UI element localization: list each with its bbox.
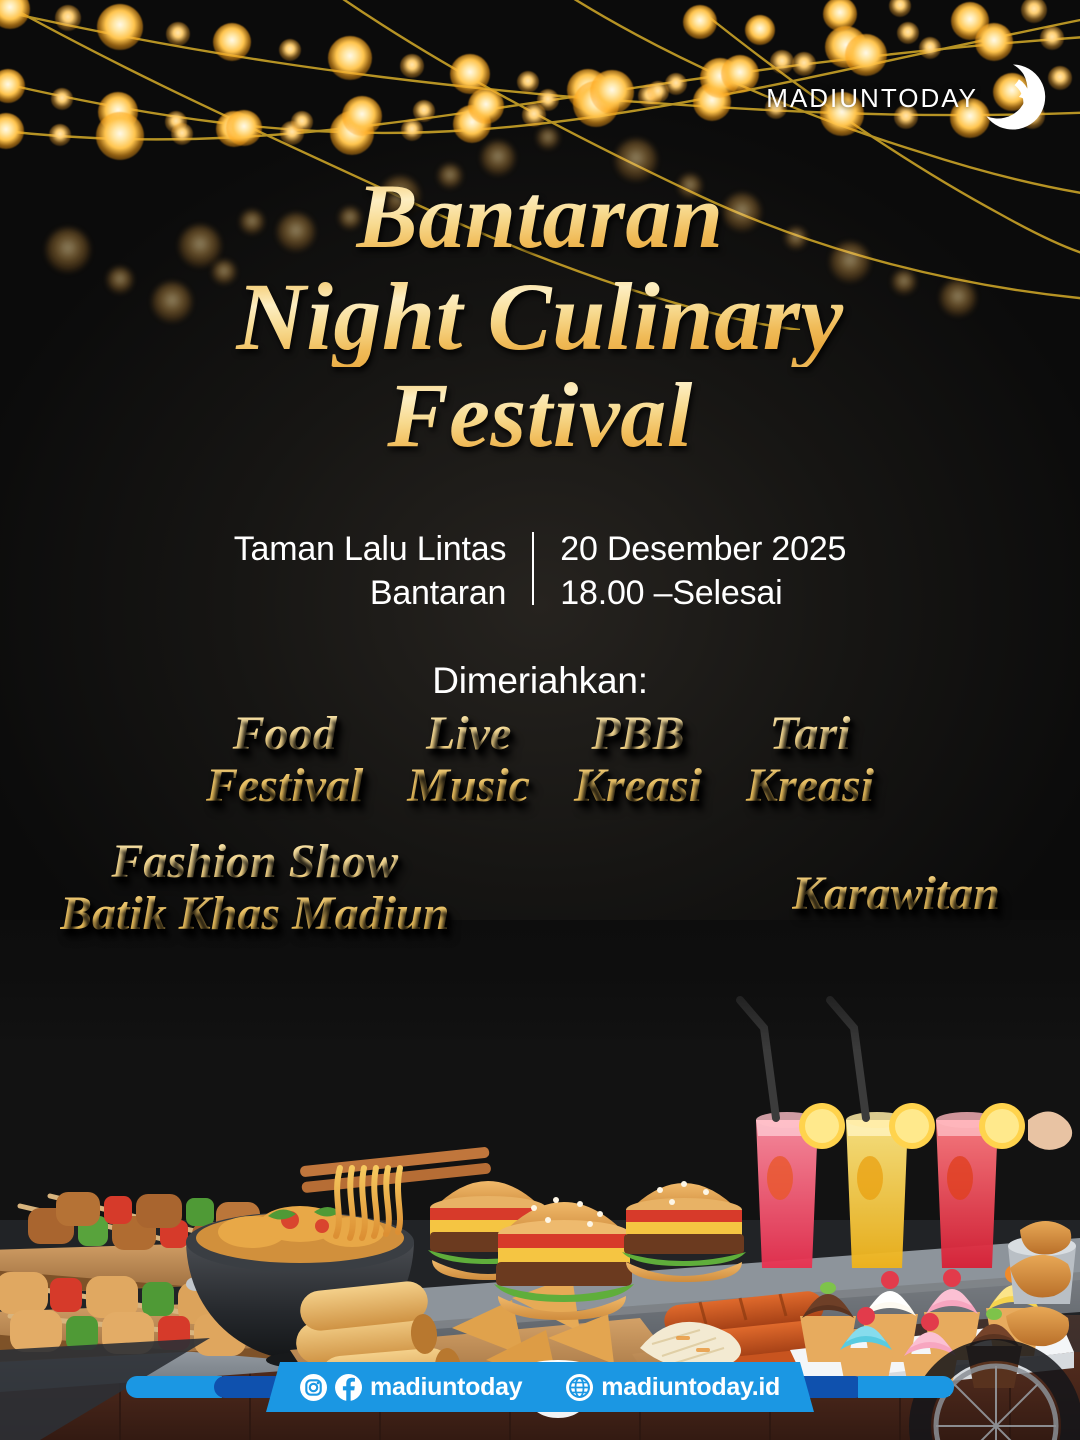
venue-line-1: Taman Lalu Lintas <box>234 528 507 572</box>
act-label-line1: Fashion Show <box>60 836 449 888</box>
footer-banner: madiuntoday madiuntoday.id <box>266 1362 814 1412</box>
venue-block: Taman Lalu Lintas Bantaran <box>234 528 533 615</box>
footer-bar-segment-left-1 <box>126 1376 222 1398</box>
instagram-icon[interactable] <box>300 1374 327 1401</box>
event-date: 20 Desember 2025 <box>560 528 846 572</box>
event-title: Bantaran Night Culinary Festival <box>0 168 1080 465</box>
title-line-1: Bantaran <box>0 168 1080 266</box>
act-karawitan: Karawitan <box>792 836 1020 920</box>
act-fashion-show: Fashion Show Batik Khas Madiun <box>60 836 449 940</box>
website-group[interactable]: madiuntoday.id <box>566 1373 780 1402</box>
act-label-line1: PBB <box>574 708 702 760</box>
brand-logo-text: MADIUNTODAY <box>766 85 978 111</box>
footer-contact-bar: madiuntoday madiuntoday.id <box>0 1362 1080 1414</box>
title-line-2: Night Culinary <box>0 266 1080 368</box>
event-info-row: Taman Lalu Lintas Bantaran 20 Desember 2… <box>0 528 1080 615</box>
social-group[interactable]: madiuntoday <box>300 1373 522 1402</box>
act-label-line2: Music <box>407 760 530 812</box>
act-tari-kreasi: Tari Kreasi <box>724 708 896 812</box>
act-label-line2: Kreasi <box>746 760 874 812</box>
act-live-music: Live Music <box>385 708 552 812</box>
act-label-line1: Food <box>206 708 363 760</box>
facebook-icon[interactable] <box>335 1374 362 1401</box>
lineup-row-2: Fashion Show Batik Khas Madiun Karawitan <box>60 836 1020 940</box>
act-label-line1: Tari <box>746 708 874 760</box>
act-pbb-kreasi: PBB Kreasi <box>552 708 724 812</box>
lineup-heading: Dimeriahkan: <box>0 660 1080 702</box>
datetime-block: 20 Desember 2025 18.00 –Selesai <box>534 528 846 615</box>
website-text: madiuntoday.id <box>601 1373 780 1402</box>
act-label-line2: Kreasi <box>574 760 702 812</box>
act-label-line2: Batik Khas Madiun <box>60 888 449 940</box>
globe-icon[interactable] <box>566 1374 593 1401</box>
act-label-line1: Live <box>407 708 530 760</box>
venue-line-2: Bantaran <box>234 572 507 616</box>
act-label-line2: Festival <box>206 760 363 812</box>
event-time: 18.00 –Selesai <box>560 572 846 616</box>
swirl-logo-icon <box>976 60 1050 134</box>
lineup-row-1: Food Festival Live Music PBB Kreasi Tari… <box>40 708 1040 812</box>
footer-bar-segment-right-1 <box>858 1376 954 1398</box>
act-food-festival: Food Festival <box>184 708 385 812</box>
brand-logo[interactable]: MADIUNTODAY <box>766 62 1050 134</box>
social-handle-text: madiuntoday <box>370 1373 522 1402</box>
poster-canvas: MADIUNTODAY Bantaran Night Culinary Fest… <box>0 0 1080 1440</box>
title-line-3: Festival <box>0 367 1080 465</box>
